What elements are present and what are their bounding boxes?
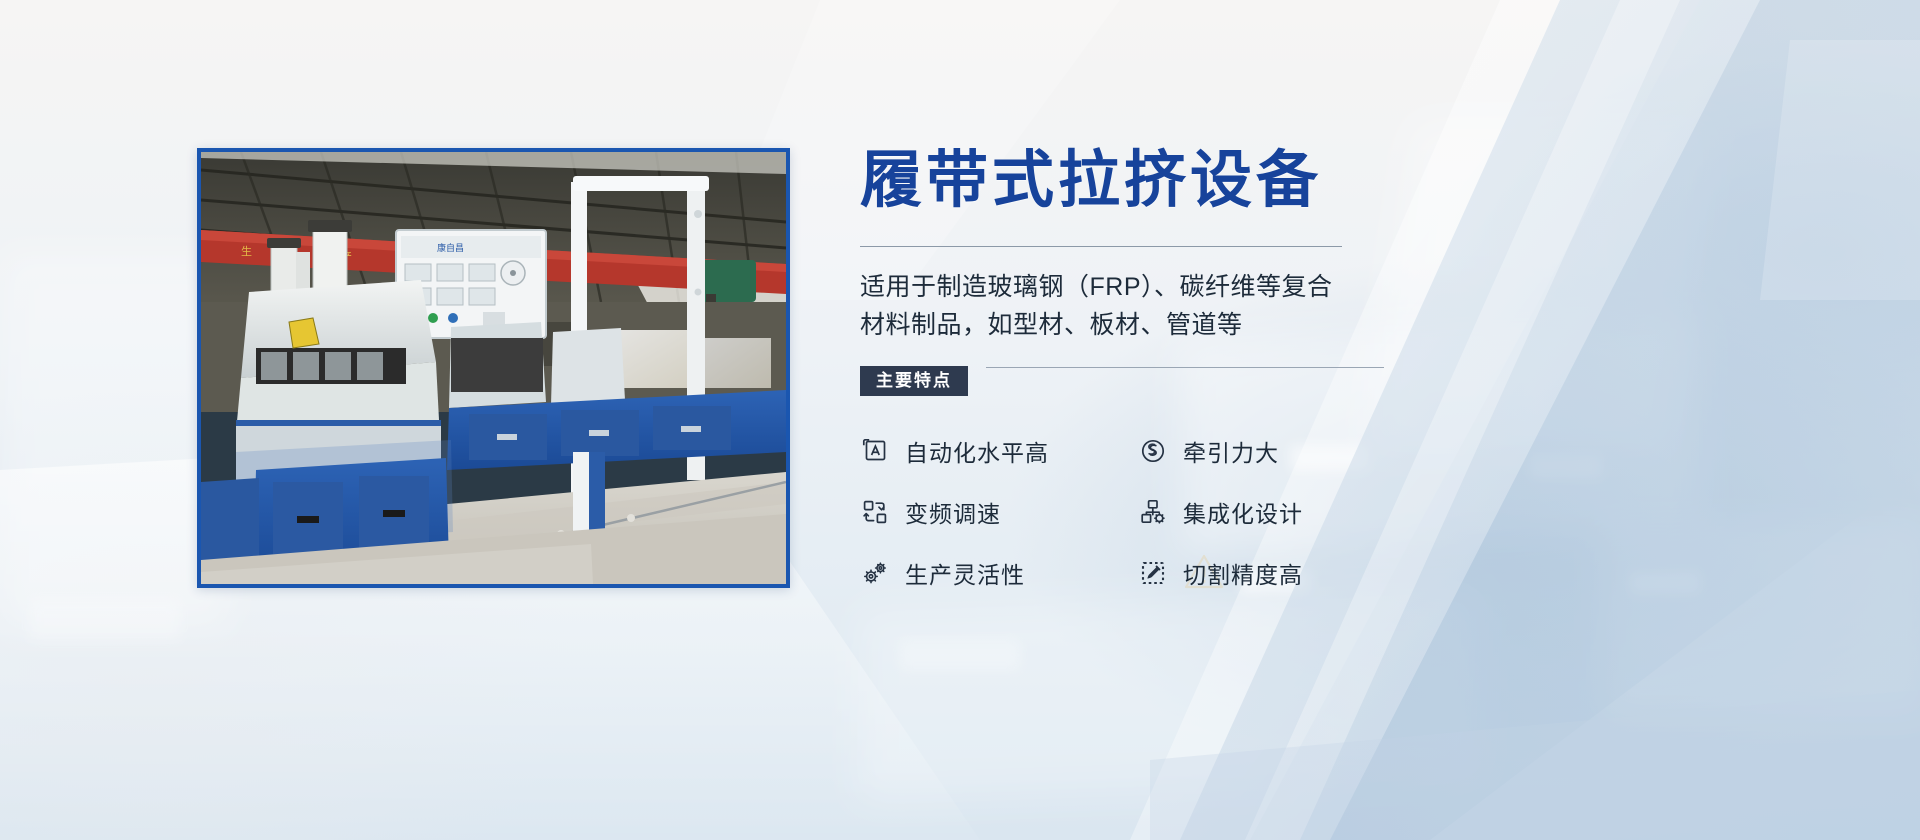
feature-item[interactable]: 变频调速 <box>860 495 1138 529</box>
product-photo-image: 生产 安全 康自昌 <box>201 152 786 584</box>
svg-text:康自昌: 康自昌 <box>437 242 464 253</box>
feature-label: 牵引力大 <box>1183 434 1279 468</box>
feature-label: 生产灵活性 <box>905 556 1025 590</box>
main-features-heading: 主要特点 <box>860 366 1360 396</box>
integrated-design-icon <box>1138 497 1168 527</box>
feature-label: 集成化设计 <box>1183 495 1303 529</box>
status-badge: 主要特点 <box>860 366 968 396</box>
svg-text:生: 生 <box>241 244 252 258</box>
badge-trailing-line <box>986 367 1384 368</box>
integrated-design-icon-wrap[interactable]: 集成化设计 <box>1138 495 1416 529</box>
feature-item[interactable]: 生产灵活性 <box>860 556 1138 590</box>
frequency-speed-icon <box>860 497 890 527</box>
gears-flexibility-icon <box>860 558 890 588</box>
title-divider <box>860 246 1342 247</box>
feature-item[interactable]: 牵引力大 <box>1138 434 1416 468</box>
cutting-precision-pen-icon <box>1138 558 1168 588</box>
hero-subtitle: 适用于制造玻璃钢（FRP）、碳纤维等复合材料制品，如型材、板材、管道等 <box>860 269 1350 344</box>
product-hero-banner: 生产 安全 康自昌 <box>0 0 1920 840</box>
feature-item[interactable]: 自动化水平高 <box>860 434 1138 468</box>
traction-circle-waves-icon <box>1138 436 1168 466</box>
product-photo-card[interactable]: 生产 安全 康自昌 <box>197 148 790 588</box>
feature-label: 切割精度高 <box>1183 556 1303 590</box>
feature-label: 自动化水平高 <box>905 434 1049 468</box>
feature-item[interactable]: 切割精度高 <box>1138 556 1416 590</box>
hero-content: 履带式拉挤设备 适用于制造玻璃钢（FRP）、碳纤维等复合材料制品，如型材、板材、… <box>860 150 1360 590</box>
feature-label: 变频调速 <box>905 495 1001 529</box>
automation-square-a-icon <box>860 436 890 466</box>
page-title: 履带式拉挤设备 <box>860 150 1360 212</box>
feature-list: 自动化水平高 牵引力大 <box>860 434 1420 590</box>
